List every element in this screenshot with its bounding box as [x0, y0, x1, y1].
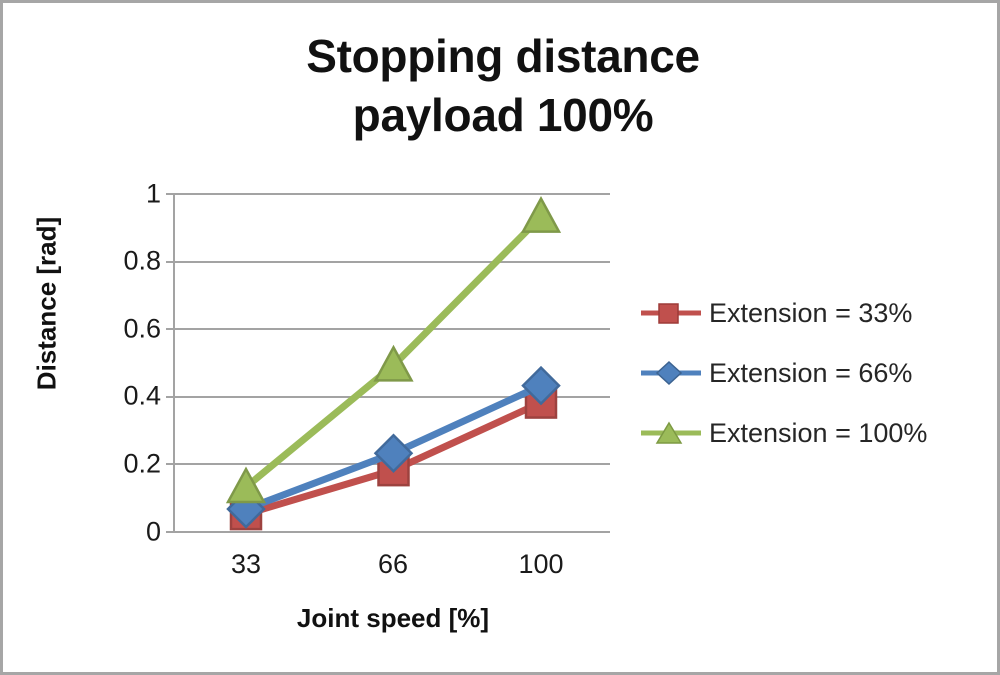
y-tick-label-0-4: 0.4 [101, 381, 161, 412]
legend-item-extension-66[interactable]: Extension = 66% [639, 343, 995, 403]
y-tick-0-2 [166, 463, 175, 465]
x-tick-label-33: 33 [186, 549, 306, 580]
y-tick-label-0-6: 0.6 [101, 314, 161, 345]
gridline-0-6 [173, 328, 610, 330]
legend-item-extension-100[interactable]: Extension = 100% [639, 403, 995, 463]
chart-legend: Extension = 33% Extension = 66% Extensio… [639, 283, 995, 463]
legend-item-extension-33[interactable]: Extension = 33% [639, 283, 995, 343]
legend-label-extension-100: Extension = 100% [709, 418, 927, 449]
y-tick-label-0-8: 0.8 [101, 246, 161, 277]
x-axis-title: Joint speed [%] [173, 603, 613, 634]
y-tick-0-4 [166, 396, 175, 398]
y-tick-0-6 [166, 328, 175, 330]
y-tick-labels: 1 0.8 0.6 0.4 0.2 0 [93, 3, 161, 675]
legend-label-extension-66: Extension = 66% [709, 358, 912, 389]
chart-container: Stopping distance payload 100% Distance … [0, 0, 1000, 675]
gridline-0-8 [173, 261, 610, 263]
legend-key-triangle-icon [639, 418, 703, 448]
gridline-0-4 [173, 396, 610, 398]
legend-key-square-icon [639, 298, 703, 328]
y-tick-1 [166, 193, 175, 195]
y-tick-0 [166, 531, 175, 533]
legend-key-diamond-icon [639, 358, 703, 388]
y-tick-label-0: 0 [101, 517, 161, 548]
x-tick-label-66: 66 [333, 549, 453, 580]
y-tick-label-1: 1 [101, 179, 161, 210]
y-axis-title: Distance [rad] [32, 194, 63, 414]
gridline-1 [173, 193, 610, 195]
x-tick-label-100: 100 [481, 549, 601, 580]
legend-label-extension-33: Extension = 33% [709, 298, 912, 329]
y-tick-label-0-2: 0.2 [101, 449, 161, 480]
y-tick-0-8 [166, 261, 175, 263]
chart-title-line-1: Stopping distance [306, 30, 700, 82]
gridline-0-2 [173, 463, 610, 465]
y-axis-line [173, 193, 175, 533]
plot-area [173, 193, 610, 531]
gridline-0 [173, 531, 610, 533]
